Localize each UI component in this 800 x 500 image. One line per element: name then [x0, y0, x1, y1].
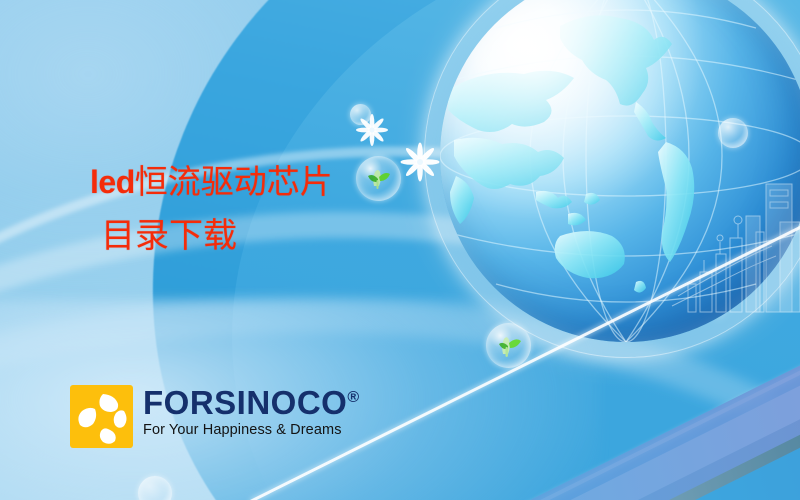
city-skyline-silhouette	[654, 176, 800, 326]
banner-canvas: led恒流驱动芯片 目录下载 FORSINOCO® For Your Happi…	[0, 0, 800, 500]
four-petal-pinwheel-icon	[70, 385, 133, 448]
headline-line-1: led恒流驱动芯片	[90, 162, 450, 204]
bubble-small-1	[350, 104, 371, 125]
bubble-small-3	[138, 476, 172, 500]
logo-wordmark-text: FORSINOCO	[143, 384, 347, 421]
bubble-small-2	[718, 118, 748, 148]
logo-text-block: FORSINOCO® For Your Happiness & Dreams	[143, 385, 360, 438]
bubble-with-green-sprout-2	[486, 323, 531, 368]
headline-cjk-part: 恒流驱动芯片	[135, 165, 333, 201]
page-title: led恒流驱动芯片 目录下载	[90, 162, 450, 259]
headline-latin-led: led	[90, 164, 135, 200]
logo-tagline: For Your Happiness & Dreams	[143, 422, 360, 438]
company-logo: FORSINOCO® For Your Happiness & Dreams	[70, 385, 360, 448]
logo-wordmark: FORSINOCO®	[143, 386, 360, 421]
headline-line-2: 目录下载	[101, 215, 450, 259]
registered-trademark-icon: ®	[347, 389, 359, 406]
